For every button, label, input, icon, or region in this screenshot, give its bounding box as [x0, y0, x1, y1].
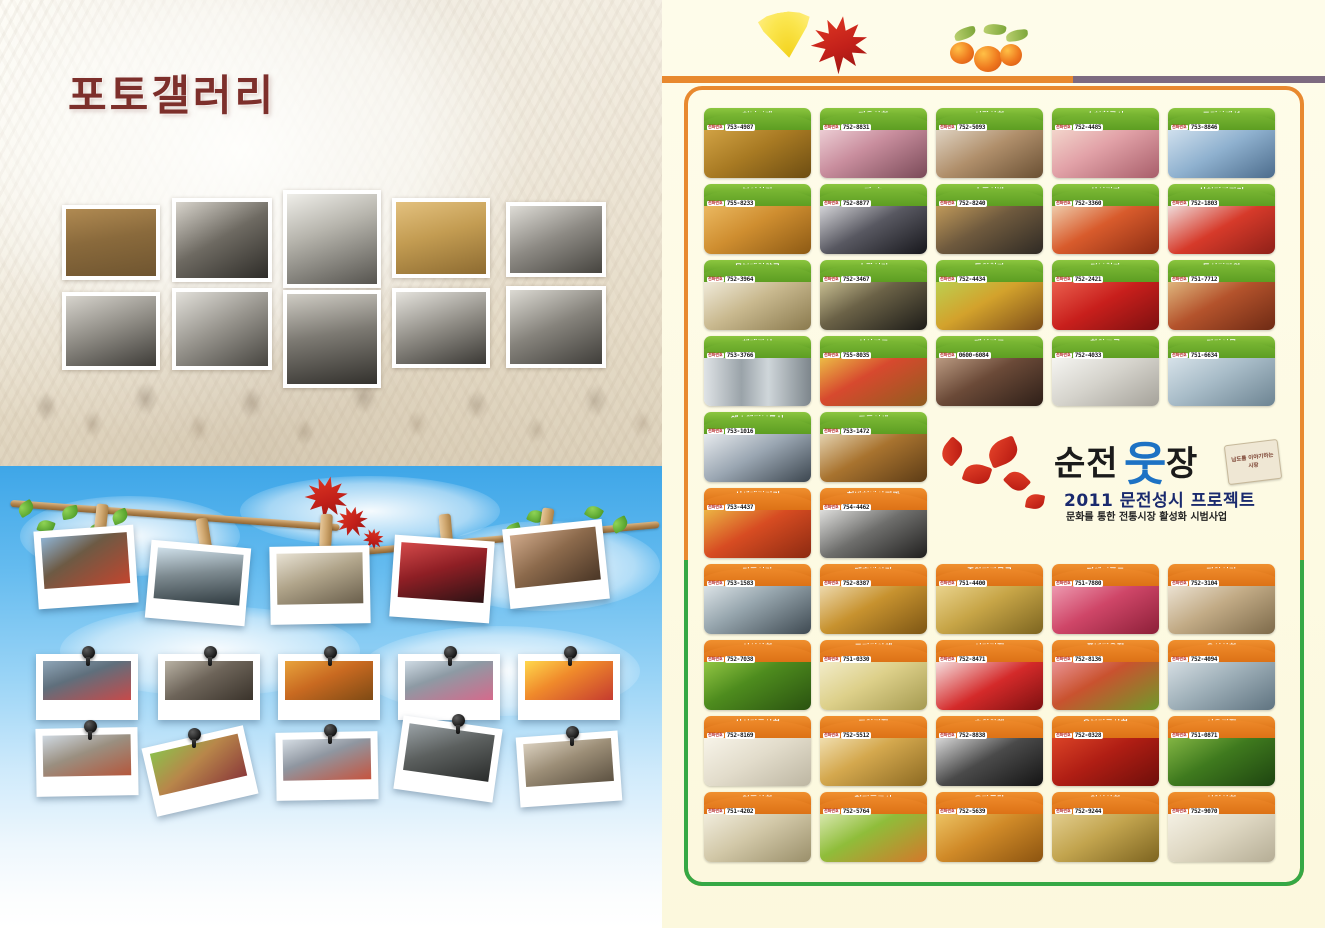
tel-label: 전화번호	[1055, 125, 1072, 129]
tel-label: 전화번호	[939, 809, 956, 813]
shop-phone-number: 752-8240	[957, 200, 988, 207]
shop-phone-number: 751-6634	[1189, 352, 1220, 359]
tel-label: 전화번호	[707, 277, 724, 281]
shop-card[interactable]: 성일상회전화번호752-9070	[1168, 792, 1275, 862]
shop-tel-block: 전화번호752-9244	[1055, 808, 1103, 815]
tel-label: 전화번호	[707, 505, 724, 509]
shop-tel-block: 전화번호752-3104	[1171, 580, 1219, 587]
shop-tel-block: 전화번호752-8169	[707, 732, 755, 739]
shop-card[interactable]: 영주상회전화번호751-4202	[704, 792, 811, 862]
shop-card[interactable]: 삼성전자전화번호752-3360	[1052, 184, 1159, 254]
clothespin	[319, 514, 333, 549]
tel-label: 전화번호	[1055, 581, 1072, 585]
shop-card[interactable]: 삼성미곡상회전화번호752-8169	[704, 716, 811, 786]
shop-card[interactable]: 풍년정육점전화번호752-8136	[1052, 640, 1159, 710]
shop-phone-number: 753-1472	[841, 428, 872, 435]
shop-tel-block: 전화번호752-9070	[1171, 808, 1219, 815]
shop-card[interactable]: 코끼리야채전화번호751-0330	[820, 640, 927, 710]
shop-card[interactable]: 신미먹집전화번호752-8471	[936, 640, 1043, 710]
shop-card[interactable]: 대흥방앗간전화번호752-8387	[820, 564, 927, 634]
historic-photo	[62, 292, 160, 370]
tel-label: 전화번호	[823, 277, 840, 281]
logo-project-subtitle: 문화를 통한 전통시장 활성화 시범사업	[1066, 508, 1227, 523]
pinned-photo	[141, 725, 258, 817]
shop-phone-number: 751-0871	[1189, 732, 1220, 739]
shop-card[interactable]: 동원청과전화번호752-4434	[936, 260, 1043, 330]
tel-label: 전화번호	[823, 505, 840, 509]
shop-tel-block: 전화번호752-8136	[1055, 656, 1103, 663]
shop-tel-block: 전화번호752-8387	[823, 580, 871, 587]
shop-tel-block: 전화번호753-4437	[707, 504, 755, 511]
tel-label: 전화번호	[707, 353, 724, 357]
pinned-photo	[35, 727, 138, 797]
pushpin-icon	[204, 646, 217, 659]
photo-gallery-section: 포토갤러리	[0, 0, 662, 466]
pinned-photo	[393, 715, 502, 802]
tel-label: 전화번호	[1055, 353, 1072, 357]
shop-phone-number: 752-3467	[841, 276, 872, 283]
shop-tel-block: 전화번호752-5093	[939, 124, 987, 131]
hanging-photo	[145, 540, 251, 626]
pinned-photo	[275, 731, 378, 801]
shop-phone-number: 752-5512	[841, 732, 872, 739]
tel-label: 전화번호	[823, 429, 840, 433]
shop-phone-number: 0600-6084	[957, 352, 991, 359]
tel-label: 전화번호	[1171, 125, 1188, 129]
shop-card[interactable]: 지웅상회전화번호752-8831	[820, 108, 927, 178]
right-page: 천냥시대전화번호753-4987지웅상회전화번호752-8831서광상회전화번호…	[662, 0, 1325, 928]
tel-label: 전화번호	[1171, 809, 1188, 813]
tel-label: 전화번호	[823, 809, 840, 813]
shop-card[interactable]: 해태장식전화번호753-3766	[704, 336, 811, 406]
shop-phone-number: 754-4462	[841, 504, 872, 511]
shop-phone-number: 752-9070	[1189, 808, 1220, 815]
shop-phone-number: 752-5764	[841, 808, 872, 815]
shop-card[interactable]: 순천침구사전화번호752-4485	[1052, 108, 1159, 178]
shop-tel-block: 전화번호752-4094	[1171, 656, 1219, 663]
shop-phone-number: 752-5639	[957, 808, 988, 815]
shop-tel-block: 전화번호753-1016	[707, 428, 755, 435]
shop-tel-block: 전화번호751-7880	[1055, 580, 1103, 587]
tel-label: 전화번호	[707, 581, 724, 585]
shop-card[interactable]: 초원양행전화번호752-8838	[936, 716, 1043, 786]
shop-card[interactable]: 신세대먹거리전화번호753-4437	[704, 488, 811, 558]
shop-phone-number: 752-3104	[1189, 580, 1220, 587]
tel-label: 전화번호	[1171, 657, 1188, 661]
shop-tel-block: 전화번호752-3467	[823, 276, 871, 283]
shop-phone-number: 753-4987	[725, 124, 756, 131]
shop-tel-block: 전화번호753-4987	[707, 124, 755, 131]
shop-phone-number: 751-4400	[957, 580, 988, 587]
historic-photo	[506, 286, 606, 368]
shop-card[interactable]: 성산마트전화번호755-8035	[820, 336, 927, 406]
shop-tel-block: 전화번호752-5639	[939, 808, 987, 815]
shop-tel-block: 전화번호752-2421	[1055, 276, 1103, 283]
shop-card[interactable]: 서울떡집전화번호751-0871	[1168, 716, 1275, 786]
historic-photo	[172, 198, 272, 282]
shop-tel-block: 전화번호752-8471	[939, 656, 987, 663]
shop-phone-number: 752-4033	[1073, 352, 1104, 359]
historic-photo	[283, 290, 381, 388]
shop-tel-block: 전화번호751-0871	[1171, 732, 1219, 739]
shop-tel-block: 전화번호752-8877	[823, 200, 871, 207]
shop-phone-number: 751-7880	[1073, 580, 1104, 587]
historic-photo	[392, 198, 490, 278]
tel-label: 전화번호	[1171, 277, 1188, 281]
pushpin-icon	[566, 726, 579, 739]
shop-tel-block: 전화번호754-4462	[823, 504, 871, 511]
tel-label: 전화번호	[1055, 733, 1072, 737]
shop-card[interactable]: 동신건강원전화번호751-7712	[1168, 260, 1275, 330]
tel-label: 전화번호	[939, 581, 956, 585]
shop-tel-block: 전화번호751-4202	[707, 808, 755, 815]
pushpin-icon	[84, 720, 97, 733]
shop-tel-block: 전화번호755-8035	[823, 352, 871, 359]
logo-brand-text-2: 장	[1166, 436, 1198, 485]
shop-tel-block: 전화번호752-4485	[1055, 124, 1103, 131]
shop-phone-number: 752-8136	[1073, 656, 1104, 663]
logo-brand-text: 순전	[1054, 436, 1119, 485]
shop-tel-block: 전화번호752-5512	[823, 732, 871, 739]
left-page: 포토갤러리	[0, 0, 662, 928]
shop-tel-block: 전화번호752-4434	[939, 276, 987, 283]
pushpin-icon	[564, 646, 577, 659]
tel-label: 전화번호	[1055, 201, 1072, 205]
pushpin-icon	[188, 728, 201, 741]
tel-label: 전화번호	[707, 201, 724, 205]
shop-phone-number: 752-1803	[1189, 200, 1220, 207]
shop-phone-number: 752-3964	[725, 276, 756, 283]
shop-tel-block: 전화번호752-5764	[823, 808, 871, 815]
shop-phone-number: 752-5093	[957, 124, 988, 131]
shop-card[interactable]: 웃장통닭전화번호752-5639	[936, 792, 1043, 862]
shop-phone-number: 752-8471	[957, 656, 988, 663]
tel-label: 전화번호	[707, 429, 724, 433]
shop-card[interactable]: 삼천리자전거전화번호752-1803	[1168, 184, 1275, 254]
tel-label: 전화번호	[707, 733, 724, 737]
shop-card[interactable]: 모든인쇄전화번호753-1472	[820, 412, 927, 482]
shop-card[interactable]: 부어치킨전화번호755-8233	[704, 184, 811, 254]
logo-brand-accent: 웃	[1124, 428, 1166, 494]
shop-card[interactable]: 일성상회전화번호752-9244	[1052, 792, 1159, 862]
tel-label: 전화번호	[1055, 657, 1072, 661]
shop-tel-block: 전화번호753-3766	[707, 352, 755, 359]
shop-card[interactable]: 패션마트전화번호0600-6084	[936, 336, 1043, 406]
shop-card[interactable]: 경주식당전화번호753-1583	[704, 564, 811, 634]
shop-phone-number: 752-8831	[841, 124, 872, 131]
shop-phone-number: 752-4434	[957, 276, 988, 283]
page-title: 포토갤러리	[68, 62, 276, 123]
shop-phone-number: 752-9244	[1073, 808, 1104, 815]
tel-label: 전화번호	[939, 353, 956, 357]
tel-label: 전화번호	[939, 277, 956, 281]
shop-tel-block: 전화번호752-7038	[707, 656, 755, 663]
pushpin-icon	[324, 646, 337, 659]
shop-phone-number: 753-3766	[725, 352, 756, 359]
shop-phone-number: 753-4437	[725, 504, 756, 511]
historic-photo	[62, 205, 160, 280]
shop-tel-block: 전화번호752-8240	[939, 200, 987, 207]
tel-label: 전화번호	[1171, 581, 1188, 585]
shop-phone-number: 752-8877	[841, 200, 872, 207]
shop-phone-number: 755-8233	[725, 200, 756, 207]
tel-label: 전화번호	[707, 809, 724, 813]
shop-phone-number: 752-0328	[1073, 732, 1104, 739]
shop-tel-block: 전화번호753-1583	[707, 580, 755, 587]
shop-phone-number: 752-8169	[725, 732, 756, 739]
pushpin-icon	[452, 714, 465, 727]
shop-tel-block: 전화번호753-1472	[823, 428, 871, 435]
tel-label: 전화번호	[823, 201, 840, 205]
shop-tel-block: 전화번호752-8831	[823, 124, 871, 131]
tel-label: 전화번호	[939, 657, 956, 661]
shop-tel-block: 전화번호752-3360	[1055, 200, 1103, 207]
historic-photo	[283, 190, 381, 288]
shop-card[interactable]: 송광식당전화번호752-3467	[820, 260, 927, 330]
tel-label: 전화번호	[707, 657, 724, 661]
pushpin-icon	[82, 646, 95, 659]
shop-tel-block: 전화번호751-6634	[1171, 352, 1219, 359]
shop-card[interactable]: 피엔씨푸드전화번호751-7880	[1052, 564, 1159, 634]
historic-photo	[506, 202, 606, 277]
shop-card[interactable]: 진양식당전화번호752-3104	[1168, 564, 1275, 634]
shop-tel-block: 전화번호751-0330	[823, 656, 871, 663]
tel-label: 전화번호	[1171, 353, 1188, 357]
pushpin-icon	[324, 724, 337, 737]
tel-label: 전화번호	[823, 657, 840, 661]
shop-tel-block: 전화번호755-8233	[707, 200, 755, 207]
tel-label: 전화번호	[1171, 733, 1188, 737]
shop-phone-number: 751-7712	[1189, 276, 1220, 283]
shop-tel-block: 전화번호752-4033	[1055, 352, 1103, 359]
shop-phone-number: 752-4485	[1073, 124, 1104, 131]
shop-tel-block: 전화번호751-4400	[939, 580, 987, 587]
shop-card[interactable]: 명보청과전화번호752-2421	[1052, 260, 1159, 330]
shop-phone-number: 752-2421	[1073, 276, 1104, 283]
shop-phone-number: 752-7038	[725, 656, 756, 663]
brochure-spread: 포토갤러리	[0, 0, 1325, 928]
shop-card[interactable]: 우성상회전화번호752-4094	[1168, 640, 1275, 710]
tel-label: 전화번호	[823, 125, 840, 129]
tel-label: 전화번호	[823, 733, 840, 737]
shop-tel-block: 전화번호0600-6084	[939, 352, 991, 359]
shop-card[interactable]: 천냥시대전화번호753-4987	[704, 108, 811, 178]
shop-card[interactable]: 허바허바사진관전화번호754-4462	[820, 488, 927, 558]
shop-tel-block: 전화번호752-0328	[1055, 732, 1103, 739]
tel-label: 전화번호	[823, 353, 840, 357]
tel-label: 전화번호	[823, 581, 840, 585]
market-logo-block: 순전 웃 장 남도를 이야기하는 시장 2011 문전성시 프로젝트 문화를 통…	[1040, 434, 1280, 544]
tel-label: 전화번호	[939, 733, 956, 737]
shop-card[interactable]: 신성상회전화번호752-7038	[704, 640, 811, 710]
hanging-photo	[502, 519, 610, 609]
shop-tel-block: 전화번호751-7712	[1171, 276, 1219, 283]
shop-card[interactable]: 파 츠전화번호752-8877	[820, 184, 927, 254]
historic-photo	[392, 288, 490, 368]
shop-phone-number: 753-1583	[725, 580, 756, 587]
shop-card[interactable]: 코리아패션전화번호753-8846	[1168, 108, 1275, 178]
shop-tel-block: 전화번호753-8846	[1171, 124, 1219, 131]
shop-tel-block: 전화번호752-1803	[1171, 200, 1219, 207]
pushpin-icon	[444, 646, 457, 659]
historic-photo	[172, 288, 272, 370]
tel-label: 전화번호	[1055, 809, 1072, 813]
shop-card[interactable]: 서광상회전화번호752-5093	[936, 108, 1043, 178]
shop-card[interactable]: 오복미곡상회전화번호752-0328	[1052, 716, 1159, 786]
market-photos-section	[0, 466, 662, 928]
shop-phone-number: 753-8846	[1189, 124, 1220, 131]
shop-card[interactable]: 칸건어물전화번호751-6634	[1168, 336, 1275, 406]
shop-phone-number: 752-4094	[1189, 656, 1220, 663]
shop-phone-number: 751-0330	[841, 656, 872, 663]
hanging-photo	[33, 525, 138, 610]
shop-card[interactable]: 목부제일약국전화번호752-3964	[704, 260, 811, 330]
shop-phone-number: 752-3360	[1073, 200, 1104, 207]
shop-phone-number: 752-8387	[841, 580, 872, 587]
shop-phone-number: 753-1016	[725, 428, 756, 435]
shop-tel-block: 전화번호752-8838	[939, 732, 987, 739]
hanging-photo	[269, 545, 370, 625]
shop-card[interactable]: 한양그릇전화번호752-4033	[1052, 336, 1159, 406]
shop-phone-number: 755-8035	[841, 352, 872, 359]
shop-card[interactable]: 협정종묘사전화번호752-5764	[820, 792, 927, 862]
shop-card[interactable]: 조일떡집전화번호752-5512	[820, 716, 927, 786]
logo-hang-tag: 남도를 이야기하는 시장	[1224, 439, 1282, 485]
shop-card[interactable]: 승주신발전화번호752-8240	[936, 184, 1043, 254]
shop-phone-number: 751-4202	[725, 808, 756, 815]
pinned-photo	[516, 731, 623, 808]
shop-card[interactable]: 중앙전자물류전화번호751-4400	[936, 564, 1043, 634]
tel-label: 전화번호	[707, 125, 724, 129]
tel-label: 전화번호	[939, 125, 956, 129]
shop-phone-number: 752-8838	[957, 732, 988, 739]
hanging-photo	[389, 535, 494, 624]
shop-card[interactable]: 에스엠정보통신전화번호753-1016	[704, 412, 811, 482]
tel-label: 전화번호	[939, 201, 956, 205]
shop-tel-block: 전화번호752-3964	[707, 276, 755, 283]
tel-label: 전화번호	[1171, 201, 1188, 205]
tel-label: 전화번호	[1055, 277, 1072, 281]
